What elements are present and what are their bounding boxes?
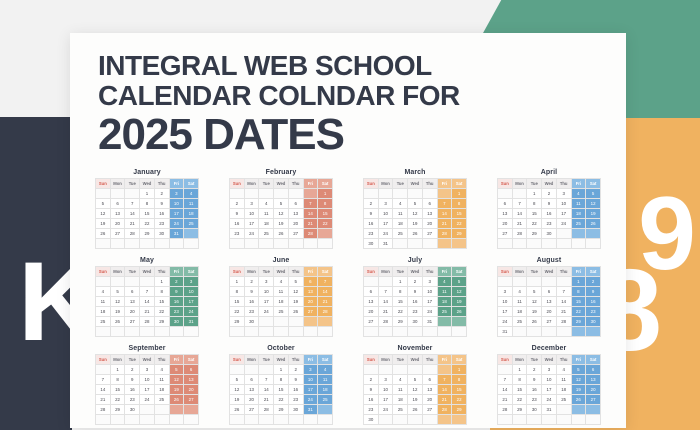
day-cell[interactable]: 12 xyxy=(408,385,423,395)
day-cell[interactable]: 24 xyxy=(422,307,437,317)
day-cell[interactable]: 16 xyxy=(364,219,379,229)
day-cell[interactable]: 15 xyxy=(274,385,289,395)
day-cell[interactable]: 3 xyxy=(169,189,184,199)
day-cell[interactable]: 6 xyxy=(125,287,140,297)
day-cell[interactable]: 22 xyxy=(154,307,169,317)
day-cell[interactable]: 14 xyxy=(303,209,318,219)
day-cell[interactable]: 1 xyxy=(452,189,467,199)
day-cell[interactable]: 17 xyxy=(542,385,557,395)
day-cell[interactable]: 5 xyxy=(527,287,542,297)
day-cell[interactable]: 30 xyxy=(364,415,379,425)
day-cell[interactable]: 9 xyxy=(586,287,601,297)
day-cell[interactable]: 19 xyxy=(96,219,111,229)
day-cell[interactable]: 14 xyxy=(96,385,111,395)
day-cell[interactable]: 10 xyxy=(140,375,155,385)
day-cell[interactable]: 4 xyxy=(437,277,452,287)
day-cell[interactable]: 29 xyxy=(274,405,289,415)
day-cell[interactable]: 18 xyxy=(184,209,199,219)
day-cell[interactable]: 11 xyxy=(556,375,571,385)
day-cell[interactable]: 25 xyxy=(96,317,111,327)
day-cell[interactable]: 15 xyxy=(110,385,125,395)
day-cell[interactable]: 25 xyxy=(318,395,333,405)
day-cell[interactable]: 4 xyxy=(393,375,408,385)
day-cell[interactable]: 3 xyxy=(556,189,571,199)
day-cell[interactable]: 12 xyxy=(110,297,125,307)
day-cell[interactable]: 20 xyxy=(586,385,601,395)
day-cell[interactable]: 24 xyxy=(556,219,571,229)
day-cell[interactable]: 13 xyxy=(586,375,601,385)
day-cell[interactable]: 25 xyxy=(556,395,571,405)
day-cell[interactable]: 21 xyxy=(96,395,111,405)
day-cell[interactable]: 14 xyxy=(498,385,513,395)
day-cell[interactable]: 22 xyxy=(318,219,333,229)
day-cell[interactable]: 18 xyxy=(512,307,527,317)
day-cell[interactable]: 18 xyxy=(571,209,586,219)
day-cell[interactable]: 5 xyxy=(452,277,467,287)
day-cell[interactable]: 23 xyxy=(542,219,557,229)
day-cell[interactable]: 20 xyxy=(288,219,303,229)
day-cell[interactable]: 12 xyxy=(288,287,303,297)
day-cell[interactable]: 11 xyxy=(184,199,199,209)
day-cell[interactable]: 16 xyxy=(586,297,601,307)
day-cell[interactable]: 16 xyxy=(154,209,169,219)
day-cell[interactable]: 10 xyxy=(169,199,184,209)
day-cell[interactable]: 28 xyxy=(437,405,452,415)
day-cell[interactable]: 28 xyxy=(303,229,318,239)
day-cell[interactable]: 11 xyxy=(393,209,408,219)
day-cell[interactable]: 22 xyxy=(274,395,289,405)
day-cell[interactable]: 3 xyxy=(498,287,513,297)
day-cell[interactable]: 8 xyxy=(452,199,467,209)
day-cell[interactable]: 1 xyxy=(140,189,155,199)
day-cell[interactable]: 22 xyxy=(452,395,467,405)
day-cell[interactable]: 6 xyxy=(110,199,125,209)
day-cell[interactable]: 3 xyxy=(244,199,259,209)
day-cell[interactable]: 23 xyxy=(288,395,303,405)
day-cell[interactable]: 24 xyxy=(542,395,557,405)
day-cell[interactable]: 13 xyxy=(288,209,303,219)
day-cell[interactable]: 28 xyxy=(556,317,571,327)
day-cell[interactable]: 5 xyxy=(408,199,423,209)
day-cell[interactable]: 10 xyxy=(498,297,513,307)
day-cell[interactable]: 26 xyxy=(452,307,467,317)
day-cell[interactable]: 15 xyxy=(154,297,169,307)
day-cell[interactable]: 30 xyxy=(288,405,303,415)
day-cell[interactable]: 18 xyxy=(259,219,274,229)
day-cell[interactable]: 2 xyxy=(364,375,379,385)
day-cell[interactable]: 23 xyxy=(244,307,259,317)
day-cell[interactable]: 23 xyxy=(586,307,601,317)
day-cell[interactable]: 9 xyxy=(230,209,245,219)
day-cell[interactable]: 11 xyxy=(512,297,527,307)
day-cell[interactable]: 14 xyxy=(437,385,452,395)
day-cell[interactable]: 9 xyxy=(542,199,557,209)
day-cell[interactable]: 5 xyxy=(230,375,245,385)
day-cell[interactable]: 20 xyxy=(244,395,259,405)
day-cell[interactable]: 30 xyxy=(408,317,423,327)
day-cell[interactable]: 21 xyxy=(498,395,513,405)
day-cell[interactable]: 27 xyxy=(422,405,437,415)
day-cell[interactable]: 26 xyxy=(408,405,423,415)
day-cell[interactable]: 25 xyxy=(274,307,289,317)
day-cell[interactable]: 4 xyxy=(259,199,274,209)
day-cell[interactable]: 20 xyxy=(422,219,437,229)
day-cell[interactable]: 20 xyxy=(125,307,140,317)
day-cell[interactable]: 13 xyxy=(364,297,379,307)
day-cell[interactable]: 10 xyxy=(422,287,437,297)
day-cell[interactable]: 13 xyxy=(110,209,125,219)
day-cell[interactable]: 26 xyxy=(169,395,184,405)
day-cell[interactable]: 13 xyxy=(244,385,259,395)
day-cell[interactable]: 15 xyxy=(393,297,408,307)
day-cell[interactable]: 8 xyxy=(527,199,542,209)
day-cell[interactable]: 17 xyxy=(378,219,393,229)
day-cell[interactable]: 19 xyxy=(408,219,423,229)
day-cell[interactable]: 7 xyxy=(437,199,452,209)
day-cell[interactable]: 14 xyxy=(140,297,155,307)
day-cell[interactable]: 27 xyxy=(498,229,513,239)
day-cell[interactable]: 12 xyxy=(169,375,184,385)
day-cell[interactable]: 9 xyxy=(169,287,184,297)
day-cell[interactable]: 6 xyxy=(288,199,303,209)
day-cell[interactable]: 17 xyxy=(259,297,274,307)
day-cell[interactable]: 28 xyxy=(378,317,393,327)
day-cell[interactable]: 26 xyxy=(110,317,125,327)
day-cell[interactable]: 30 xyxy=(125,405,140,415)
day-cell[interactable]: 27 xyxy=(422,229,437,239)
day-cell[interactable]: 28 xyxy=(140,317,155,327)
day-cell[interactable]: 1 xyxy=(571,277,586,287)
day-cell[interactable]: 25 xyxy=(512,317,527,327)
day-cell[interactable]: 10 xyxy=(378,385,393,395)
day-cell[interactable]: 27 xyxy=(184,395,199,405)
day-cell[interactable]: 1 xyxy=(154,277,169,287)
day-cell[interactable]: 23 xyxy=(230,229,245,239)
day-cell[interactable]: 7 xyxy=(96,375,111,385)
day-cell[interactable]: 16 xyxy=(169,297,184,307)
day-cell[interactable]: 26 xyxy=(586,219,601,229)
day-cell[interactable]: 5 xyxy=(96,199,111,209)
day-cell[interactable]: 2 xyxy=(586,277,601,287)
day-cell[interactable]: 26 xyxy=(408,229,423,239)
day-cell[interactable]: 13 xyxy=(422,209,437,219)
day-cell[interactable]: 10 xyxy=(556,199,571,209)
day-cell[interactable]: 12 xyxy=(274,209,289,219)
day-cell[interactable]: 28 xyxy=(512,229,527,239)
day-cell[interactable]: 6 xyxy=(422,375,437,385)
day-cell[interactable]: 26 xyxy=(527,317,542,327)
day-cell[interactable]: 29 xyxy=(527,229,542,239)
day-cell[interactable]: 28 xyxy=(437,229,452,239)
day-cell[interactable]: 24 xyxy=(498,317,513,327)
day-cell[interactable]: 30 xyxy=(244,317,259,327)
day-cell[interactable]: 19 xyxy=(230,395,245,405)
day-cell[interactable]: 30 xyxy=(586,317,601,327)
day-cell[interactable]: 17 xyxy=(378,395,393,405)
day-cell[interactable]: 29 xyxy=(393,317,408,327)
day-cell[interactable]: 17 xyxy=(556,209,571,219)
day-cell[interactable]: 19 xyxy=(586,209,601,219)
day-cell[interactable]: 19 xyxy=(288,297,303,307)
day-cell[interactable]: 6 xyxy=(364,287,379,297)
day-cell[interactable]: 16 xyxy=(230,219,245,229)
day-cell[interactable]: 15 xyxy=(452,209,467,219)
day-cell[interactable]: 18 xyxy=(556,385,571,395)
day-cell[interactable]: 9 xyxy=(244,287,259,297)
day-cell[interactable]: 22 xyxy=(110,395,125,405)
day-cell[interactable]: 8 xyxy=(452,375,467,385)
day-cell[interactable]: 1 xyxy=(512,365,527,375)
day-cell[interactable]: 22 xyxy=(571,307,586,317)
day-cell[interactable]: 28 xyxy=(498,405,513,415)
day-cell[interactable]: 13 xyxy=(498,209,513,219)
day-cell[interactable]: 31 xyxy=(184,317,199,327)
day-cell[interactable]: 15 xyxy=(452,385,467,395)
day-cell[interactable]: 12 xyxy=(452,287,467,297)
day-cell[interactable]: 31 xyxy=(498,327,513,337)
day-cell[interactable]: 12 xyxy=(571,375,586,385)
day-cell[interactable]: 1 xyxy=(452,365,467,375)
day-cell[interactable]: 12 xyxy=(230,385,245,395)
day-cell[interactable]: 14 xyxy=(437,209,452,219)
day-cell[interactable]: 18 xyxy=(393,395,408,405)
day-cell[interactable]: 6 xyxy=(586,365,601,375)
day-cell[interactable]: 8 xyxy=(274,375,289,385)
day-cell[interactable]: 7 xyxy=(303,199,318,209)
day-cell[interactable]: 29 xyxy=(230,317,245,327)
day-cell[interactable]: 15 xyxy=(318,209,333,219)
day-cell[interactable]: 29 xyxy=(154,317,169,327)
day-cell[interactable]: 5 xyxy=(586,189,601,199)
day-cell[interactable]: 20 xyxy=(422,395,437,405)
day-cell[interactable]: 17 xyxy=(422,297,437,307)
day-cell[interactable]: 31 xyxy=(378,239,393,249)
day-cell[interactable]: 28 xyxy=(96,405,111,415)
day-cell[interactable]: 5 xyxy=(571,365,586,375)
day-cell[interactable]: 4 xyxy=(318,365,333,375)
day-cell[interactable]: 26 xyxy=(230,405,245,415)
day-cell[interactable]: 30 xyxy=(542,229,557,239)
day-cell[interactable]: 2 xyxy=(288,365,303,375)
day-cell[interactable]: 16 xyxy=(364,395,379,405)
day-cell[interactable]: 9 xyxy=(364,385,379,395)
day-cell[interactable]: 17 xyxy=(169,209,184,219)
day-cell[interactable]: 20 xyxy=(110,219,125,229)
day-cell[interactable]: 19 xyxy=(110,307,125,317)
day-cell[interactable]: 2 xyxy=(154,189,169,199)
day-cell[interactable]: 20 xyxy=(364,307,379,317)
day-cell[interactable]: 16 xyxy=(125,385,140,395)
day-cell[interactable]: 19 xyxy=(169,385,184,395)
day-cell[interactable]: 4 xyxy=(154,365,169,375)
day-cell[interactable]: 24 xyxy=(259,307,274,317)
day-cell[interactable]: 7 xyxy=(125,199,140,209)
day-cell[interactable]: 5 xyxy=(169,365,184,375)
day-cell[interactable]: 27 xyxy=(586,395,601,405)
day-cell[interactable]: 16 xyxy=(408,297,423,307)
day-cell[interactable]: 19 xyxy=(571,385,586,395)
day-cell[interactable]: 16 xyxy=(527,385,542,395)
day-cell[interactable]: 4 xyxy=(556,365,571,375)
day-cell[interactable]: 27 xyxy=(244,405,259,415)
day-cell[interactable]: 18 xyxy=(154,385,169,395)
day-cell[interactable]: 14 xyxy=(556,297,571,307)
day-cell[interactable]: 14 xyxy=(318,287,333,297)
day-cell[interactable]: 1 xyxy=(318,189,333,199)
day-cell[interactable]: 26 xyxy=(274,229,289,239)
day-cell[interactable]: 25 xyxy=(393,405,408,415)
day-cell[interactable]: 23 xyxy=(154,219,169,229)
day-cell[interactable]: 11 xyxy=(437,287,452,297)
day-cell[interactable]: 28 xyxy=(125,229,140,239)
day-cell[interactable]: 21 xyxy=(259,395,274,405)
day-cell[interactable]: 30 xyxy=(527,405,542,415)
day-cell[interactable]: 31 xyxy=(542,405,557,415)
day-cell[interactable]: 2 xyxy=(244,277,259,287)
day-cell[interactable]: 3 xyxy=(259,277,274,287)
day-cell[interactable]: 18 xyxy=(96,307,111,317)
day-cell[interactable]: 21 xyxy=(437,219,452,229)
day-cell[interactable]: 31 xyxy=(303,405,318,415)
day-cell[interactable]: 8 xyxy=(110,375,125,385)
day-cell[interactable]: 12 xyxy=(408,209,423,219)
day-cell[interactable]: 21 xyxy=(318,297,333,307)
day-cell[interactable]: 6 xyxy=(498,199,513,209)
day-cell[interactable]: 24 xyxy=(244,229,259,239)
day-cell[interactable]: 3 xyxy=(184,277,199,287)
day-cell[interactable]: 7 xyxy=(259,375,274,385)
day-cell[interactable]: 21 xyxy=(556,307,571,317)
day-cell[interactable]: 24 xyxy=(184,307,199,317)
day-cell[interactable]: 23 xyxy=(408,307,423,317)
day-cell[interactable]: 3 xyxy=(378,375,393,385)
day-cell[interactable]: 12 xyxy=(527,297,542,307)
day-cell[interactable]: 17 xyxy=(184,297,199,307)
day-cell[interactable]: 21 xyxy=(437,395,452,405)
day-cell[interactable]: 5 xyxy=(288,277,303,287)
day-cell[interactable]: 13 xyxy=(125,297,140,307)
day-cell[interactable]: 15 xyxy=(527,209,542,219)
day-cell[interactable]: 15 xyxy=(230,297,245,307)
day-cell[interactable]: 14 xyxy=(259,385,274,395)
day-cell[interactable]: 15 xyxy=(512,385,527,395)
day-cell[interactable]: 8 xyxy=(393,287,408,297)
day-cell[interactable]: 16 xyxy=(288,385,303,395)
day-cell[interactable]: 28 xyxy=(318,307,333,317)
day-cell[interactable]: 9 xyxy=(527,375,542,385)
day-cell[interactable]: 25 xyxy=(259,229,274,239)
day-cell[interactable]: 11 xyxy=(318,375,333,385)
day-cell[interactable]: 13 xyxy=(422,385,437,395)
day-cell[interactable]: 12 xyxy=(586,199,601,209)
day-cell[interactable]: 6 xyxy=(542,287,557,297)
day-cell[interactable]: 1 xyxy=(393,277,408,287)
day-cell[interactable]: 11 xyxy=(571,199,586,209)
day-cell[interactable]: 26 xyxy=(96,229,111,239)
day-cell[interactable]: 11 xyxy=(274,287,289,297)
day-cell[interactable]: 2 xyxy=(542,189,557,199)
day-cell[interactable]: 3 xyxy=(303,365,318,375)
day-cell[interactable]: 27 xyxy=(288,229,303,239)
day-cell[interactable]: 8 xyxy=(318,199,333,209)
day-cell[interactable]: 20 xyxy=(542,307,557,317)
day-cell[interactable]: 23 xyxy=(364,229,379,239)
day-cell[interactable]: 31 xyxy=(169,229,184,239)
day-cell[interactable]: 18 xyxy=(437,297,452,307)
day-cell[interactable]: 18 xyxy=(393,219,408,229)
day-cell[interactable]: 7 xyxy=(556,287,571,297)
day-cell[interactable]: 13 xyxy=(542,297,557,307)
day-cell[interactable]: 10 xyxy=(259,287,274,297)
day-cell[interactable]: 2 xyxy=(169,277,184,287)
day-cell[interactable]: 24 xyxy=(169,219,184,229)
day-cell[interactable]: 24 xyxy=(140,395,155,405)
day-cell[interactable]: 25 xyxy=(437,307,452,317)
day-cell[interactable]: 25 xyxy=(571,219,586,229)
day-cell[interactable]: 1 xyxy=(230,277,245,287)
day-cell[interactable]: 21 xyxy=(125,219,140,229)
day-cell[interactable]: 15 xyxy=(571,297,586,307)
day-cell[interactable]: 26 xyxy=(571,395,586,405)
day-cell[interactable]: 3 xyxy=(378,199,393,209)
day-cell[interactable]: 6 xyxy=(422,199,437,209)
day-cell[interactable]: 3 xyxy=(140,365,155,375)
day-cell[interactable]: 8 xyxy=(512,375,527,385)
day-cell[interactable]: 18 xyxy=(274,297,289,307)
day-cell[interactable]: 17 xyxy=(303,385,318,395)
day-cell[interactable]: 22 xyxy=(140,219,155,229)
day-cell[interactable]: 4 xyxy=(96,287,111,297)
day-cell[interactable]: 21 xyxy=(303,219,318,229)
day-cell[interactable]: 5 xyxy=(408,375,423,385)
day-cell[interactable]: 27 xyxy=(110,229,125,239)
day-cell[interactable]: 9 xyxy=(408,287,423,297)
day-cell[interactable]: 10 xyxy=(378,209,393,219)
day-cell[interactable]: 24 xyxy=(303,395,318,405)
day-cell[interactable]: 2 xyxy=(408,277,423,287)
day-cell[interactable]: 7 xyxy=(318,277,333,287)
day-cell[interactable]: 2 xyxy=(527,365,542,375)
day-cell[interactable]: 30 xyxy=(169,317,184,327)
day-cell[interactable]: 26 xyxy=(288,307,303,317)
day-cell[interactable]: 6 xyxy=(244,375,259,385)
day-cell[interactable]: 8 xyxy=(230,287,245,297)
day-cell[interactable]: 3 xyxy=(542,365,557,375)
day-cell[interactable]: 20 xyxy=(184,385,199,395)
day-cell[interactable]: 1 xyxy=(527,189,542,199)
day-cell[interactable]: 16 xyxy=(542,209,557,219)
day-cell[interactable]: 29 xyxy=(452,229,467,239)
day-cell[interactable]: 29 xyxy=(571,317,586,327)
day-cell[interactable]: 14 xyxy=(125,209,140,219)
day-cell[interactable]: 21 xyxy=(512,219,527,229)
day-cell[interactable]: 17 xyxy=(244,219,259,229)
day-cell[interactable]: 4 xyxy=(512,287,527,297)
day-cell[interactable]: 17 xyxy=(498,307,513,317)
day-cell[interactable]: 30 xyxy=(154,229,169,239)
day-cell[interactable]: 7 xyxy=(140,287,155,297)
day-cell[interactable]: 21 xyxy=(378,307,393,317)
day-cell[interactable]: 9 xyxy=(154,199,169,209)
day-cell[interactable]: 3 xyxy=(422,277,437,287)
day-cell[interactable]: 17 xyxy=(140,385,155,395)
day-cell[interactable]: 23 xyxy=(527,395,542,405)
day-cell[interactable]: 23 xyxy=(364,405,379,415)
day-cell[interactable]: 7 xyxy=(378,287,393,297)
day-cell[interactable]: 27 xyxy=(542,317,557,327)
day-cell[interactable]: 29 xyxy=(110,405,125,415)
day-cell[interactable]: 24 xyxy=(378,229,393,239)
